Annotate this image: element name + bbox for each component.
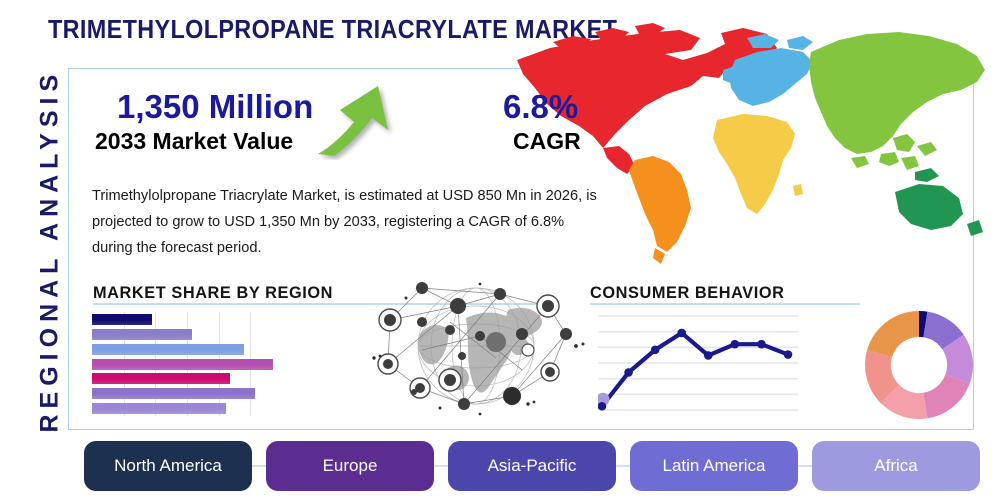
region-chip-label: North America [114, 456, 222, 476]
bar-chart-bar [92, 314, 152, 325]
cagr-number: 6.8% [503, 88, 578, 126]
line-chart-point [651, 346, 660, 355]
market-share-bar-chart [92, 312, 282, 416]
bar-fill [92, 329, 192, 340]
region-chip-label: Asia-Pacific [488, 456, 577, 476]
line-chart-point [731, 340, 740, 349]
bar-fill [92, 314, 152, 325]
growth-arrow-icon [314, 82, 406, 160]
cagr-caption: CAGR [513, 128, 581, 155]
bar-fill [92, 359, 273, 370]
infographic-root: TRIMETHYLOLPROPANE TRIACRYLATE MARKET RE… [0, 0, 1000, 500]
description-paragraph: Trimethylolpropane Triacrylate Market, i… [92, 183, 600, 261]
region-chip-bar: North AmericaEuropeAsia-PacificLatin Ame… [84, 441, 980, 491]
line-chart-heading: CONSUMER BEHAVIOR [590, 283, 784, 303]
region-chip-connector [798, 465, 812, 467]
line-chart-point [784, 350, 793, 359]
bar-chart-bar [92, 359, 273, 370]
region-chip-label: Latin America [663, 456, 766, 476]
segment-donut-chart [862, 308, 976, 422]
bar-fill [92, 373, 230, 384]
donut-segment [867, 311, 919, 357]
region-chip-latin-america[interactable]: Latin America [630, 441, 798, 491]
region-chip-asia-pacific[interactable]: Asia-Pacific [448, 441, 616, 491]
line-chart-point [598, 402, 606, 411]
market-value-number: 1,350 Million [117, 88, 313, 126]
line-chart-point [757, 340, 766, 349]
donut-segment [923, 375, 969, 419]
region-chip-connector [252, 465, 266, 467]
bar-fill [92, 344, 244, 355]
region-chip-europe[interactable]: Europe [266, 441, 434, 491]
region-chip-africa[interactable]: Africa [812, 441, 980, 491]
bar-chart-heading: MARKET SHARE BY REGION [93, 283, 333, 303]
globe-network-icon [362, 276, 590, 420]
line-chart-heading-rule [590, 303, 860, 305]
bar-fill [92, 388, 255, 399]
consumer-behavior-line-chart [598, 308, 798, 416]
kpi-block: 1,350 Million 2033 Market Value 6.8% CAG… [95, 88, 515, 168]
market-value-caption: 2033 Market Value [95, 128, 293, 155]
bar-fill [92, 403, 226, 414]
line-chart-point [677, 329, 686, 338]
vertical-side-label: REGIONAL ANALYSIS [36, 113, 65, 433]
region-chip-connector [434, 465, 448, 467]
bar-chart-bar [92, 329, 192, 340]
bar-chart-bar [92, 388, 255, 399]
line-chart-point [624, 368, 633, 377]
region-chip-connector [616, 465, 630, 467]
region-chip-label: Europe [323, 456, 378, 476]
line-chart-point [704, 351, 713, 360]
region-chip-label: Africa [874, 456, 917, 476]
bar-chart-bar [92, 344, 244, 355]
bar-chart-bar [92, 403, 226, 414]
bar-chart-bar [92, 373, 230, 384]
region-chip-north-america[interactable]: North America [84, 441, 252, 491]
